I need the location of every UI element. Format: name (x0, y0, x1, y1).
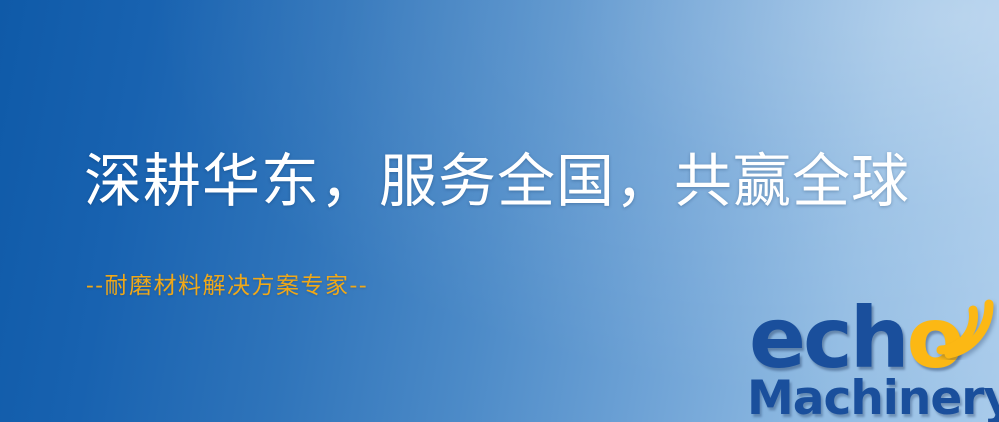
company-logo: echo Machinery® (745, 296, 999, 422)
signal-waves-icon (933, 294, 997, 360)
banner-subtitle: --耐磨材料解决方案专家-- (86, 266, 368, 300)
banner-headline: 深耕华东，服务全国，共赢全球 (84, 152, 910, 210)
logo-brand-label: Machinery (747, 371, 999, 422)
logo-brand-text: Machinery® (747, 371, 999, 422)
logo-wordmark: echo (749, 296, 961, 380)
hero-banner: 深耕华东，服务全国，共赢全球 --耐磨材料解决方案专家-- echo Machi… (0, 0, 999, 422)
